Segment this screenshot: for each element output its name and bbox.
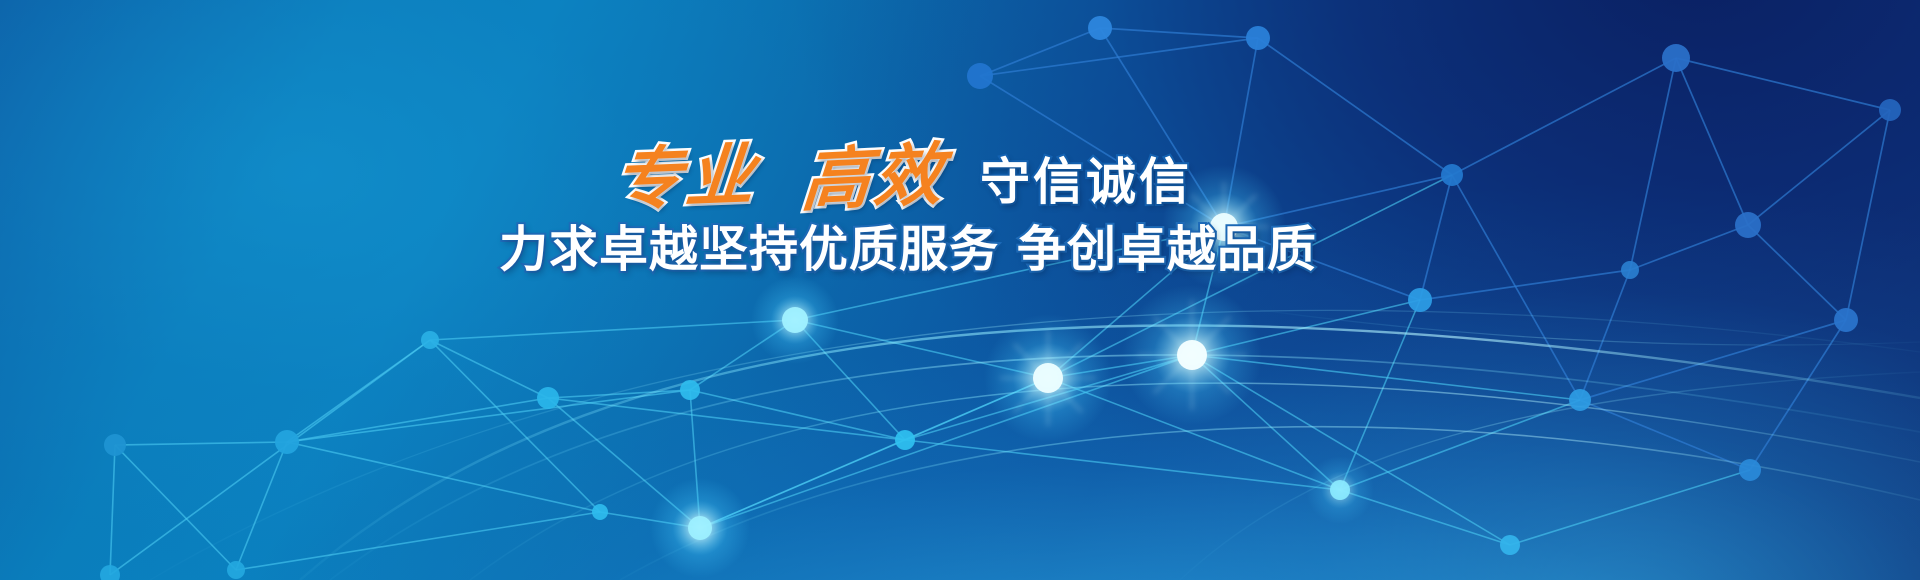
hero-banner: 专业 高效 守信诚信 力求卓越坚持优质服务 争创卓越品质	[0, 0, 1920, 580]
network-edges-light	[110, 175, 1750, 575]
network-graphic	[0, 0, 1920, 580]
network-nodes	[100, 16, 1901, 580]
